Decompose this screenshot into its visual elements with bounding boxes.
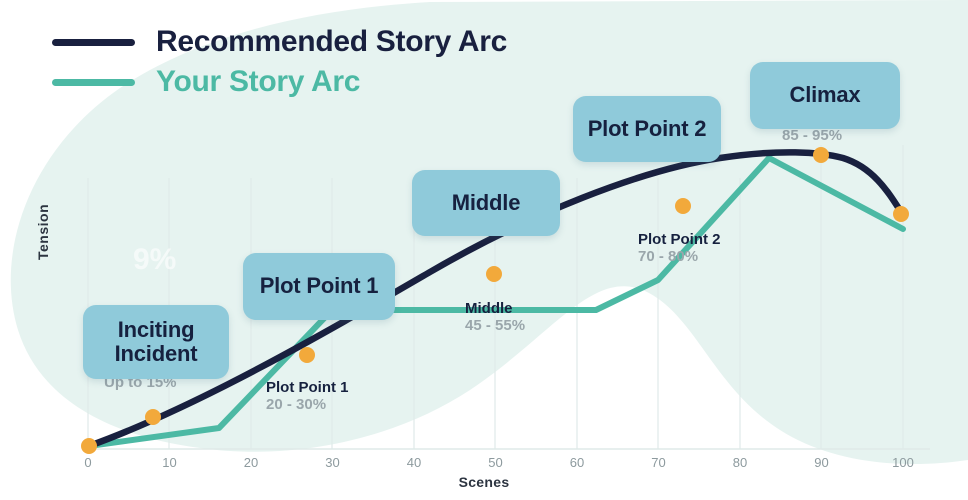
callout-plot-point-2: Plot Point 2 [573, 96, 721, 162]
annotation-plot-point-1-title: Plot Point 1 [266, 379, 349, 396]
x-axis-title: Scenes [0, 474, 968, 490]
marker-climax [813, 147, 829, 163]
marker-plot-point-2 [675, 198, 691, 214]
annotation-middle-title: Middle [465, 300, 525, 317]
x-axis-tick-0: 0 [84, 455, 91, 470]
x-axis-tick-90: 90 [814, 455, 828, 470]
annotation-plot-point-1-range: 20 - 30% [266, 396, 349, 413]
chart-canvas: 9% Recommended Story Arc Your Story Arc … [0, 0, 968, 500]
x-axis-tick-20: 20 [244, 455, 258, 470]
x-axis-tick-40: 40 [407, 455, 421, 470]
marker-plot-point-1 [299, 347, 315, 363]
annotation-plot-point-2: Plot Point 2 70 - 80% [638, 231, 721, 266]
annotation-plot-point-2-title: Plot Point 2 [638, 231, 721, 248]
x-axis-tick-60: 60 [570, 455, 584, 470]
legend: Recommended Story Arc Your Story Arc [52, 22, 507, 102]
callout-climax: Climax [750, 62, 900, 129]
callout-middle: Middle [412, 170, 560, 236]
callout-plot-point-1: Plot Point 1 [243, 253, 395, 320]
x-axis-tick-70: 70 [651, 455, 665, 470]
watermark-text: 9% [133, 243, 176, 277]
x-axis-tick-30: 30 [325, 455, 339, 470]
x-axis-tick-80: 80 [733, 455, 747, 470]
annotation-plot-point-1: Plot Point 1 20 - 30% [266, 379, 349, 414]
marker-end [893, 206, 909, 222]
marker-start [81, 438, 97, 454]
legend-swatch-navy-line-icon [52, 39, 135, 46]
callout-inciting-incident-label: Inciting Incident [115, 318, 198, 366]
x-axis-tick-100: 100 [892, 455, 914, 470]
legend-swatch-teal-line-icon [52, 79, 135, 86]
y-axis-title: Tension [35, 204, 51, 260]
legend-item-recommended-story-arc: Recommended Story Arc [52, 22, 507, 62]
annotation-plot-point-2-range: 70 - 80% [638, 248, 721, 265]
legend-item-your-story-arc: Your Story Arc [52, 62, 507, 102]
marker-middle [486, 266, 502, 282]
legend-label-yours: Your Story Arc [156, 67, 360, 97]
annotation-middle-range: 45 - 55% [465, 317, 525, 334]
x-axis-tick-50: 50 [488, 455, 502, 470]
marker-inciting [145, 409, 161, 425]
annotation-climax: Climax 85 - 95% [782, 127, 842, 144]
annotation-middle: Middle 45 - 55% [465, 300, 525, 335]
callout-inciting-incident: Inciting Incident [83, 305, 229, 379]
x-axis-tick-10: 10 [162, 455, 176, 470]
legend-label-recommended: Recommended Story Arc [156, 27, 507, 57]
annotation-climax-range: 85 - 95% [782, 127, 842, 144]
